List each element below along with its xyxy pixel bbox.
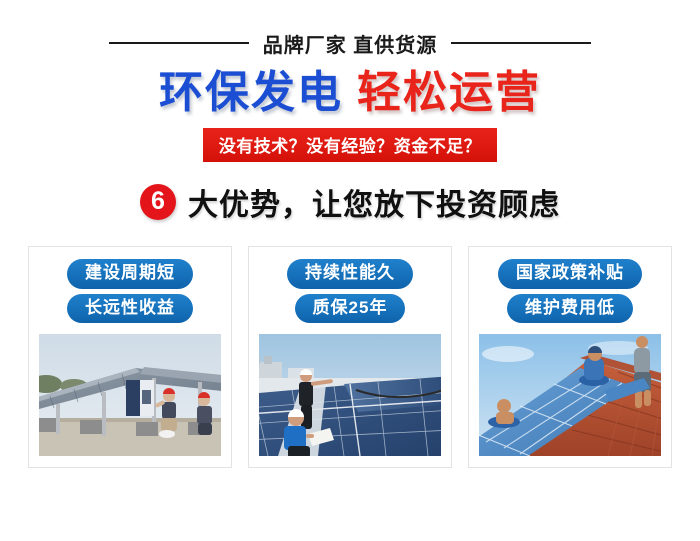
card-1-pill-2: 长远性收益 (67, 294, 193, 323)
advantages-number-badge: 6 (140, 184, 176, 220)
headline-part-red: 轻松运营 (357, 70, 541, 116)
eyebrow-row: 品牌厂家 直供货源 (0, 30, 700, 56)
tile-roof-panel-installation-photo (479, 334, 661, 456)
card-1-pill-group: 建设周期短 长远性收益 (39, 259, 221, 323)
headline-part-blue: 环保发电 (159, 70, 343, 116)
advantages-headline-text: 大优势，让您放下投资顾虑 (188, 180, 560, 224)
card-3-pill-group: 国家政策补贴 维护费用低 (479, 259, 661, 323)
eyebrow-rule-right (451, 42, 591, 44)
card-3-pill-1: 国家政策补贴 (498, 259, 642, 288)
ground-mount-solar-inverter-photo (39, 334, 221, 456)
main-headline: 环保发电轻松运营 (0, 70, 700, 116)
eyebrow-text: 品牌厂家 直供货源 (263, 29, 438, 58)
question-banner-row: 没有技术？没有经验？资金不足？ (0, 128, 700, 162)
card-3-pill-2: 维护费用低 (507, 294, 633, 323)
rooftop-solar-inspection-photo (259, 334, 441, 456)
card-1-pill-1: 建设周期短 (67, 259, 193, 288)
card-2-pill-1: 持续性能久 (287, 259, 413, 288)
question-banner: 没有技术？没有经验？资金不足？ (203, 128, 498, 162)
feature-cards-row: 建设周期短 长远性收益 (0, 246, 700, 468)
advantages-headline-row: 6 大优势，让您放下投资顾虑 (0, 180, 700, 224)
feature-card-construction[interactable]: 建设周期短 长远性收益 (28, 246, 232, 468)
feature-card-subsidy[interactable]: 国家政策补贴 维护费用低 (468, 246, 672, 468)
card-2-pill-group: 持续性能久 质保25年 (259, 259, 441, 323)
feature-card-durability[interactable]: 持续性能久 质保25年 (248, 246, 452, 468)
eyebrow-rule-left (109, 42, 249, 44)
card-2-pill-2: 质保25年 (295, 294, 406, 323)
